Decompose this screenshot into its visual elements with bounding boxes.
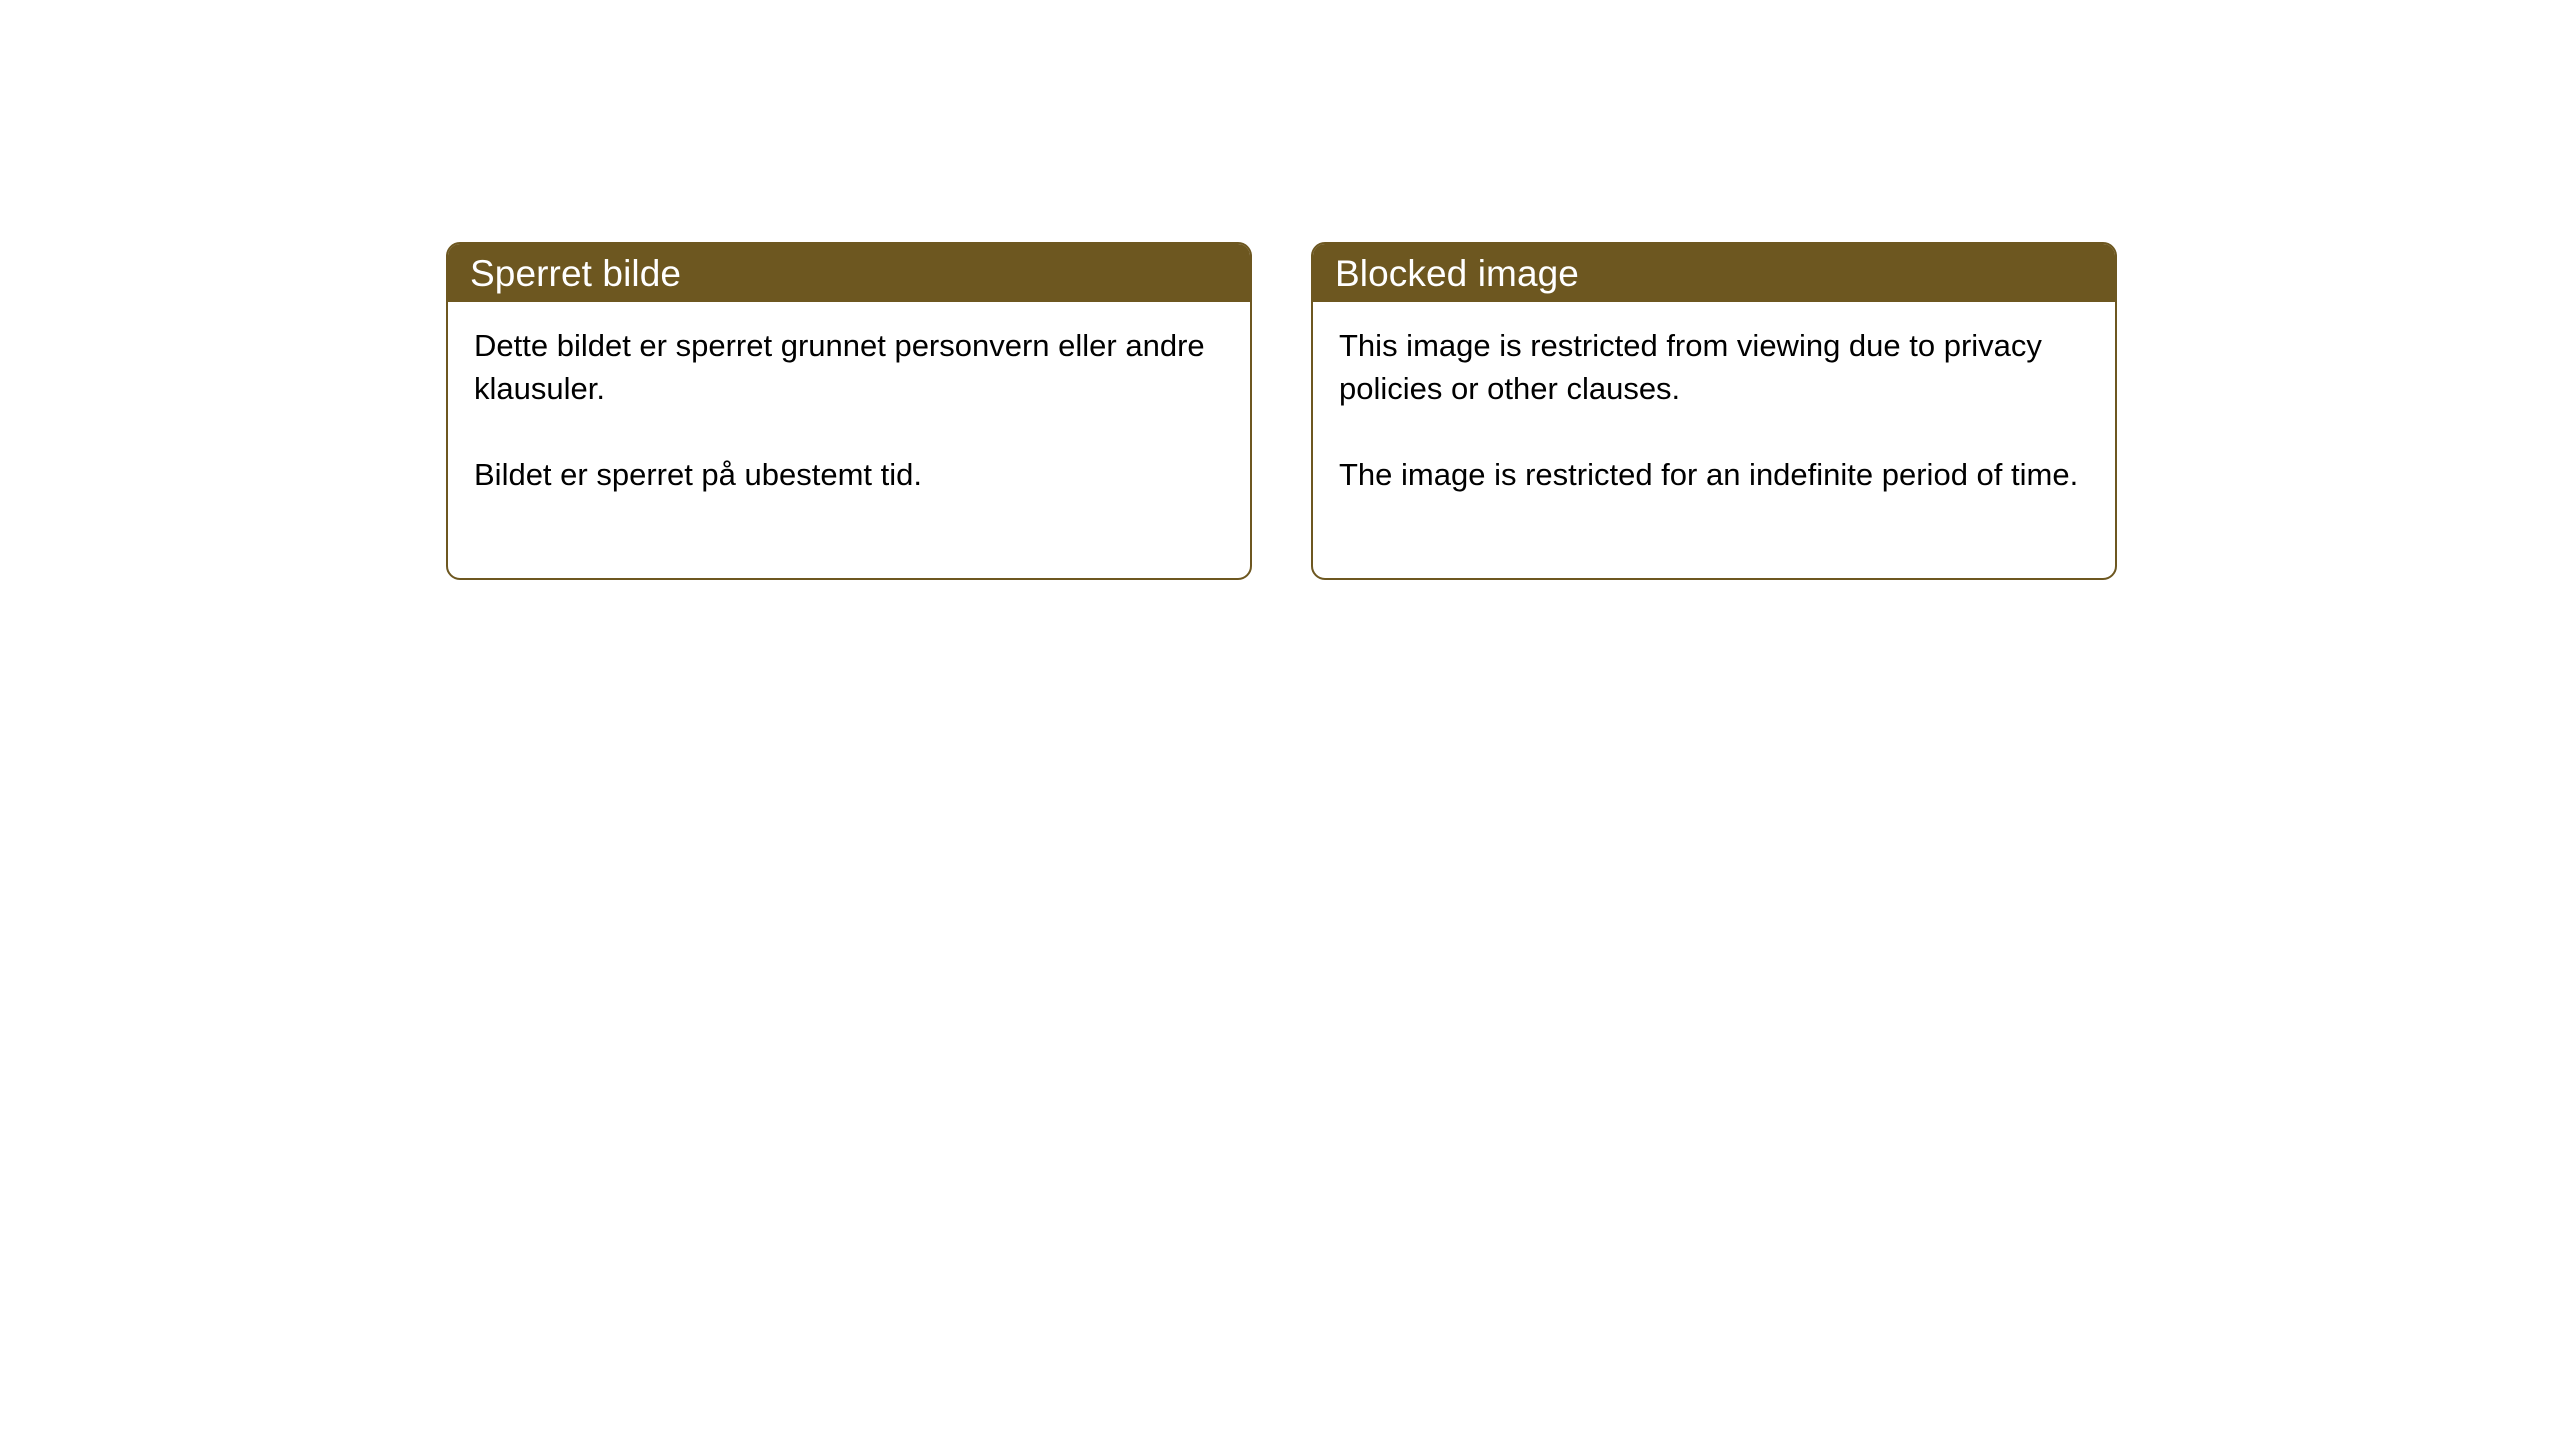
blocked-image-card-norwegian: Sperret bilde Dette bildet er sperret gr… xyxy=(446,242,1252,580)
blocked-image-notice-area: Sperret bilde Dette bildet er sperret gr… xyxy=(0,0,2560,1440)
blocked-image-card-english: Blocked image This image is restricted f… xyxy=(1311,242,2117,580)
card-paragraph-reason-english: This image is restricted from viewing du… xyxy=(1339,324,2089,410)
card-paragraph-reason-norwegian: Dette bildet er sperret grunnet personve… xyxy=(474,324,1224,410)
card-body-english: This image is restricted from viewing du… xyxy=(1313,302,2115,496)
card-title-norwegian: Sperret bilde xyxy=(470,255,681,292)
card-paragraph-duration-english: The image is restricted for an indefinit… xyxy=(1339,453,2089,496)
card-paragraph-duration-norwegian: Bildet er sperret på ubestemt tid. xyxy=(474,453,1224,496)
card-body-norwegian: Dette bildet er sperret grunnet personve… xyxy=(448,302,1250,496)
card-title-english: Blocked image xyxy=(1335,255,1579,292)
card-header-norwegian: Sperret bilde xyxy=(448,244,1250,302)
card-header-english: Blocked image xyxy=(1313,244,2115,302)
